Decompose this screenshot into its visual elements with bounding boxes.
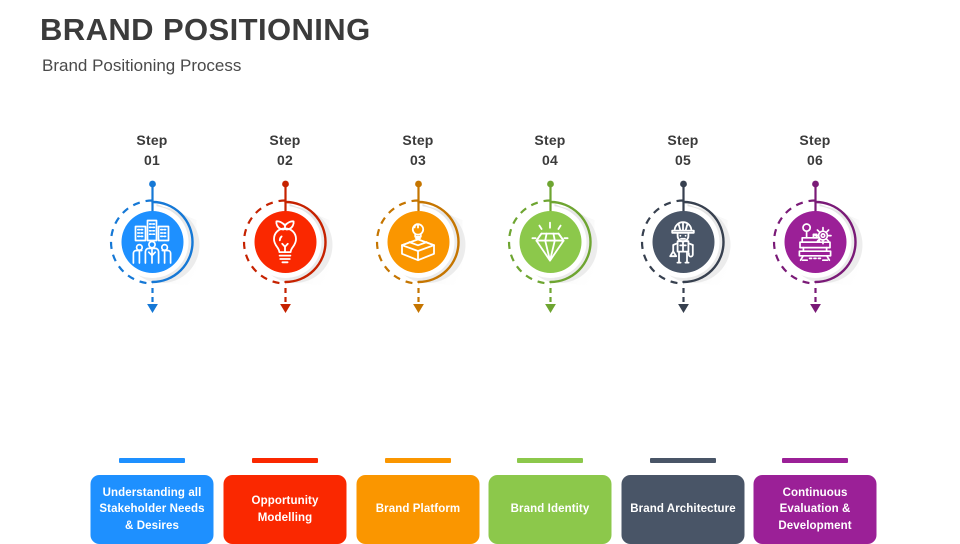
icon-disc[interactable] [387, 211, 449, 273]
node-graphics [749, 179, 882, 309]
step-number-label: Step02 [219, 130, 352, 171]
step-word: Step [269, 132, 300, 148]
down-arrow-icon [810, 304, 821, 313]
connector-dot [415, 180, 422, 187]
step-label-box[interactable]: Brand Platform [357, 475, 480, 544]
down-arrow-icon [545, 304, 556, 313]
process-step-05[interactable]: Step05 [617, 130, 750, 299]
step-node [617, 179, 750, 299]
node-graphics [484, 179, 617, 309]
node-graphics [86, 179, 219, 309]
node-graphics [617, 179, 750, 309]
step-label-box[interactable]: Brand Identity [489, 475, 612, 544]
process-steps: Step01 [0, 0, 960, 540]
step-label-box[interactable]: Understanding all Stakeholder Needs & De… [91, 475, 214, 544]
down-arrow-icon [280, 304, 291, 313]
connector-dot [680, 180, 687, 187]
step-number: 01 [86, 150, 219, 170]
step-word: Step [402, 132, 433, 148]
step-node [749, 179, 882, 299]
down-arrow-icon [678, 304, 689, 313]
step-number: 06 [749, 150, 882, 170]
connector-dot [547, 180, 554, 187]
step-number-label: Step05 [617, 130, 750, 171]
process-step-04[interactable]: Step04 [484, 130, 617, 299]
process-step-03[interactable]: Step03 [352, 130, 485, 299]
down-arrow-icon [413, 304, 424, 313]
connector-dot [282, 180, 289, 187]
label-accent-bar [385, 458, 451, 463]
icon-disc[interactable] [254, 211, 316, 273]
step-node [352, 179, 485, 299]
label-accent-bar [517, 458, 583, 463]
step-number: 05 [617, 150, 750, 170]
step-word: Step [534, 132, 565, 148]
step-label-text: Understanding all Stakeholder Needs & De… [97, 485, 208, 534]
down-arrow-icon [147, 304, 158, 313]
step-number-label: Step06 [749, 130, 882, 171]
step-word: Step [667, 132, 698, 148]
step-label-text: Opportunity Modelling [230, 493, 341, 526]
icon-disc[interactable] [652, 211, 714, 273]
icon-disc[interactable] [519, 211, 581, 273]
step-node [219, 179, 352, 299]
node-graphics [219, 179, 352, 309]
process-step-02[interactable]: Step02 [219, 130, 352, 299]
label-accent-bar [650, 458, 716, 463]
step-label-text: Continuous Evaluation & Development [760, 485, 871, 534]
icon-disc[interactable] [784, 211, 846, 273]
step-number: 02 [219, 150, 352, 170]
connector-dot [149, 180, 156, 187]
label-accent-bar [782, 458, 848, 463]
step-number-label: Step01 [86, 130, 219, 171]
step-word: Step [136, 132, 167, 148]
step-label-box[interactable]: Opportunity Modelling [224, 475, 347, 544]
step-number: 04 [484, 150, 617, 170]
step-word: Step [799, 132, 830, 148]
label-accent-bar [252, 458, 318, 463]
step-label-text: Brand Platform [376, 501, 460, 517]
step-label-text: Brand Architecture [630, 501, 736, 517]
connector-dot [812, 180, 819, 187]
step-node [86, 179, 219, 299]
step-number-label: Step04 [484, 130, 617, 171]
process-step-01[interactable]: Step01 [86, 130, 219, 299]
slide-canvas: BRAND POSITIONING Brand Positioning Proc… [0, 0, 960, 540]
step-number-label: Step03 [352, 130, 485, 171]
step-node [484, 179, 617, 299]
label-accent-bar [119, 458, 185, 463]
node-graphics [352, 179, 485, 309]
process-step-06[interactable]: Step06 [749, 130, 882, 299]
step-number: 03 [352, 150, 485, 170]
step-label-box[interactable]: Continuous Evaluation & Development [754, 475, 877, 544]
icon-disc[interactable] [121, 211, 183, 273]
step-label-text: Brand Identity [511, 501, 590, 517]
step-label-box[interactable]: Brand Architecture [622, 475, 745, 544]
